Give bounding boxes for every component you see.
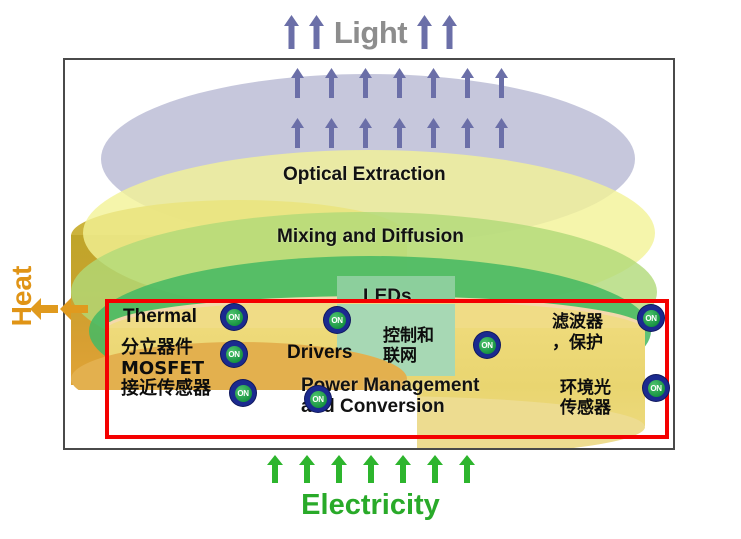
electricity-arrow-icon bbox=[459, 455, 475, 483]
electricity-arrow-icon bbox=[395, 455, 411, 483]
light-arrow-icon bbox=[325, 68, 338, 98]
item-discrete-line3: 接近传感器 bbox=[121, 379, 211, 400]
light-arrow-icon bbox=[495, 68, 508, 98]
item-filter-line2: ，保护 bbox=[552, 333, 603, 354]
light-label: Light bbox=[334, 17, 407, 48]
internal-light-arrow-row-1 bbox=[291, 68, 508, 98]
on-semiconductor-badge: ON bbox=[643, 375, 669, 401]
on-badge-text: ON bbox=[329, 312, 346, 329]
heat-arrow-icon bbox=[60, 298, 88, 320]
light-arrow-icon bbox=[461, 68, 474, 98]
light-arrow-icon bbox=[359, 118, 372, 148]
electricity-arrow-icon bbox=[427, 455, 443, 483]
electricity-label: Electricity bbox=[0, 489, 741, 522]
light-flow-row: Light bbox=[0, 8, 741, 56]
light-arrow-icon bbox=[427, 68, 440, 98]
light-arrow-icon bbox=[427, 118, 440, 148]
on-badge-text: ON bbox=[235, 385, 252, 402]
electricity-arrow-icon bbox=[363, 455, 379, 483]
item-ambient-line2: 传感器 bbox=[560, 398, 611, 418]
on-badge-text: ON bbox=[643, 310, 660, 327]
on-semiconductor-badge: ON bbox=[230, 380, 256, 406]
light-arrow-icon bbox=[291, 68, 304, 98]
heat-flow-group: Heat bbox=[0, 252, 64, 362]
light-arrow-icon bbox=[284, 15, 299, 49]
light-arrow-icon bbox=[393, 118, 406, 148]
light-arrow-icon bbox=[325, 118, 338, 148]
light-arrow-icon bbox=[309, 15, 324, 49]
heat-arrow-icon bbox=[30, 298, 58, 320]
on-badge-text: ON bbox=[226, 346, 243, 363]
heat-label: Heat bbox=[6, 248, 38, 344]
on-badge-text: ON bbox=[310, 391, 327, 408]
electricity-arrow-icon bbox=[299, 455, 315, 483]
on-badge-text: ON bbox=[648, 380, 665, 397]
electricity-arrow-icon bbox=[267, 455, 283, 483]
item-filter-line1: 滤波器 bbox=[552, 312, 603, 333]
diagram-canvas: Light bbox=[0, 0, 741, 539]
on-semiconductor-badge: ON bbox=[221, 341, 247, 367]
light-arrow-icon bbox=[393, 68, 406, 98]
electricity-arrow-group bbox=[0, 455, 741, 483]
diagram-frame: Optical Extraction Mixing and Diffusion … bbox=[63, 58, 675, 450]
light-arrow-icon bbox=[495, 118, 508, 148]
item-discrete-line1: 分立器件 bbox=[121, 338, 211, 359]
item-thermal: Thermal bbox=[123, 306, 197, 328]
on-badge-text: ON bbox=[479, 337, 496, 354]
on-semiconductor-badge: ON bbox=[305, 386, 331, 412]
internal-light-arrow-row-2 bbox=[291, 118, 508, 148]
layer-label-mixing-and-diffusion: Mixing and Diffusion bbox=[277, 226, 464, 248]
light-arrow-icon bbox=[461, 118, 474, 148]
on-semiconductor-badge: ON bbox=[221, 304, 247, 330]
on-badge-text: ON bbox=[226, 309, 243, 326]
heat-arrow-group bbox=[30, 298, 88, 320]
item-ambient-light-sensor: 环境光 传感器 bbox=[560, 378, 611, 419]
item-discrete-line2: MOSFET bbox=[121, 359, 211, 380]
item-control-networking: 控制和 联网 bbox=[383, 326, 434, 367]
item-filter-protection: 滤波器 ，保护 bbox=[552, 312, 603, 355]
on-semiconductor-badge: ON bbox=[324, 307, 350, 333]
item-ambient-line1: 环境光 bbox=[560, 378, 611, 398]
layer-label-optical-extraction: Optical Extraction bbox=[283, 164, 446, 186]
item-control-line1: 控制和 bbox=[383, 326, 434, 346]
item-control-line2: 联网 bbox=[383, 346, 434, 366]
on-semiconductor-badge: ON bbox=[474, 332, 500, 358]
item-drivers: Drivers bbox=[287, 342, 353, 364]
item-discrete-mosfet: 分立器件 MOSFET 接近传感器 bbox=[121, 338, 211, 400]
on-semiconductor-badge: ON bbox=[638, 305, 664, 331]
layer-stack: Optical Extraction Mixing and Diffusion … bbox=[65, 60, 673, 448]
light-arrow-icon bbox=[442, 15, 457, 49]
electricity-arrow-icon bbox=[331, 455, 347, 483]
light-arrow-icon bbox=[359, 68, 372, 98]
light-arrow-icon bbox=[417, 15, 432, 49]
light-arrow-icon bbox=[291, 118, 304, 148]
